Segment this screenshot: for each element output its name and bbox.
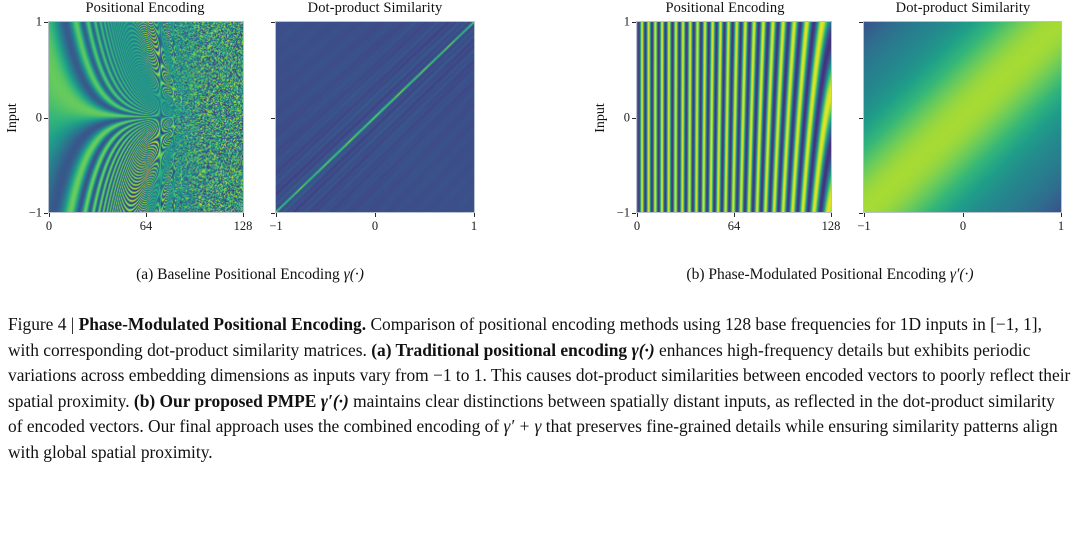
ytick-mark <box>632 213 636 214</box>
ytick-mark <box>44 118 48 119</box>
xtick-mark <box>963 213 964 217</box>
xtick-label: 0 <box>960 219 966 234</box>
xtick-mark <box>637 213 638 217</box>
figure-caption: Figure 4 | Phase-Modulated Positional En… <box>8 312 1072 465</box>
subfigure-b-caption-symbol: γ′(·) <box>950 266 974 283</box>
figure-root: Positional Encoding 1 0 −1 0 64 128 Inpu… <box>0 0 1080 540</box>
ytick-label: 1 <box>26 15 42 30</box>
ytick-label: 0 <box>26 111 42 126</box>
subfigure-b-caption: (b) Phase-Modulated Positional Encoding … <box>580 266 1080 284</box>
ytick-mark <box>271 118 275 119</box>
panel-a-positional-encoding: Positional Encoding 1 0 −1 0 64 128 Inpu… <box>0 0 250 260</box>
xtick-mark <box>1061 213 1062 217</box>
subfigure-b-caption-text: (b) Phase-Modulated Positional Encoding <box>686 266 949 283</box>
xtick-mark <box>474 213 475 217</box>
xtick-label: 1 <box>1058 219 1064 234</box>
subfigure-a-caption-symbol: γ(·) <box>344 266 364 283</box>
subfigure-b: Positional Encoding 1 0 −1 0 64 128 Inpu… <box>580 0 1080 300</box>
xtick-mark <box>49 213 50 217</box>
panel-a-dot-product-similarity: Dot-product Similarity −1 0 1 <box>250 0 500 260</box>
panel-title: Dot-product Similarity <box>260 0 490 17</box>
caption-segment: γ′(·) <box>321 391 349 411</box>
panel-title: Dot-product Similarity <box>848 0 1078 17</box>
subfigure-a: Positional Encoding 1 0 −1 0 64 128 Inpu… <box>0 0 500 300</box>
xtick-label: 0 <box>634 219 640 234</box>
xtick-mark <box>146 213 147 217</box>
xtick-label: 64 <box>728 219 741 234</box>
panel-b-positional-encoding: Positional Encoding 1 0 −1 0 64 128 Inpu… <box>580 0 830 260</box>
panel-title: Positional Encoding <box>620 0 830 17</box>
ytick-mark <box>44 22 48 23</box>
ytick-mark <box>859 118 863 119</box>
xtick-mark <box>375 213 376 217</box>
ytick-label: 1 <box>614 15 630 30</box>
ytick-mark <box>44 213 48 214</box>
ytick-mark <box>859 213 863 214</box>
heatmap-pmpe-positional-encoding <box>636 21 832 213</box>
ytick-mark <box>271 213 275 214</box>
yaxis-label-input: Input <box>593 93 609 143</box>
ytick-mark <box>271 22 275 23</box>
caption-segment: (b) Our proposed PMPE <box>134 391 321 411</box>
ytick-label: 0 <box>614 111 630 126</box>
heatmap-pmpe-similarity <box>863 21 1062 213</box>
caption-segment: (a) Traditional positional encoding <box>371 340 631 360</box>
xtick-label: 64 <box>140 219 153 234</box>
caption-segment: Figure 4 | <box>8 314 79 334</box>
ytick-label: −1 <box>18 206 42 221</box>
caption-segment: γ(·) <box>631 340 654 360</box>
xtick-label: −1 <box>269 219 282 234</box>
yaxis-label-input: Input <box>5 93 21 143</box>
subfigure-a-caption: (a) Baseline Positional Encoding γ(·) <box>0 266 500 284</box>
ytick-mark <box>859 22 863 23</box>
panel-b-dot-product-similarity: Dot-product Similarity −1 0 1 <box>830 0 1080 260</box>
xtick-mark <box>864 213 865 217</box>
xtick-label: −1 <box>857 219 870 234</box>
ytick-mark <box>632 118 636 119</box>
xtick-mark <box>734 213 735 217</box>
panel-title: Positional Encoding <box>40 0 250 17</box>
xtick-label: 0 <box>372 219 378 234</box>
xtick-label: 1 <box>471 219 477 234</box>
ytick-label: −1 <box>606 206 630 221</box>
ytick-mark <box>632 22 636 23</box>
caption-segment: γ′ + γ <box>503 416 541 436</box>
xtick-label: 0 <box>46 219 52 234</box>
xtick-mark <box>243 213 244 217</box>
subfigure-a-caption-text: (a) Baseline Positional Encoding <box>136 266 344 283</box>
xtick-mark <box>276 213 277 217</box>
heatmap-baseline-similarity <box>275 21 475 213</box>
heatmap-baseline-positional-encoding <box>48 21 244 213</box>
caption-segment: Phase-Modulated Positional Encoding. <box>79 314 366 334</box>
